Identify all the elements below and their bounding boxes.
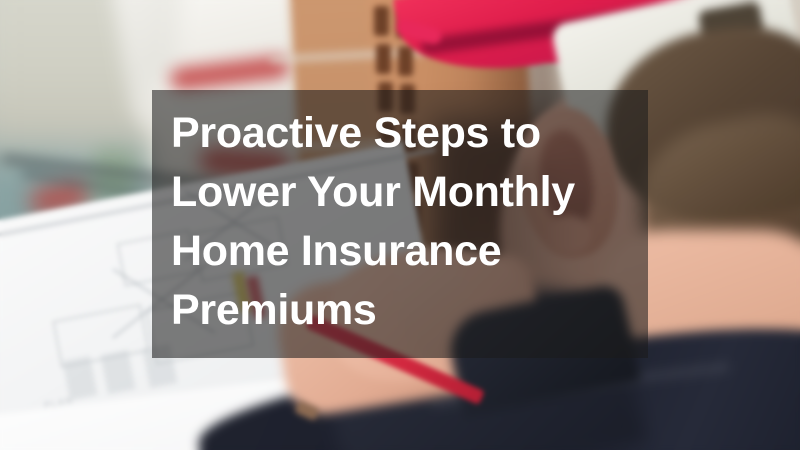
brick-hole bbox=[376, 44, 391, 74]
page-title: Proactive Steps to Lower Your Monthly Ho… bbox=[171, 104, 630, 340]
hero-banner: PLAN Proactive Steps bbox=[0, 0, 800, 450]
brick-hole bbox=[398, 46, 413, 76]
brick-hole bbox=[374, 6, 389, 36]
title-overlay: Proactive Steps to Lower Your Monthly Ho… bbox=[152, 90, 648, 358]
